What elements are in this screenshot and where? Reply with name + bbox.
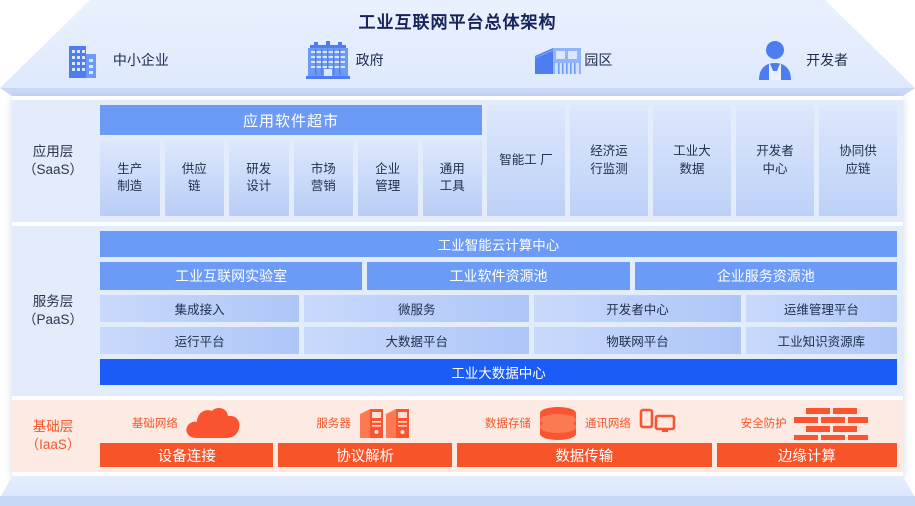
- platform-row-2: 运行平台 大数据平台 物联网平台 工业知识资源库: [100, 327, 897, 354]
- platform-runtime[interactable]: 运行平台: [100, 327, 299, 354]
- app-tile-line2: 制造: [117, 179, 142, 193]
- iaas-capability-bars: 设备连接 协议解析 数据传输 边缘计算: [100, 443, 897, 467]
- layer-label-line1: 服务层: [33, 293, 74, 311]
- header-base-strip: [0, 88, 915, 96]
- architecture-diagram: 工业互联网平台总体架构: [0, 0, 915, 506]
- biz-tile-smart-factory[interactable]: 智能工 厂: [487, 105, 565, 216]
- biz-tile-line1: 工业大: [673, 144, 711, 158]
- header-section: 工业互联网平台总体架构: [0, 0, 915, 96]
- app-tile-line2: 工具: [440, 179, 465, 193]
- layer-label-line2: （SaaS）: [23, 161, 83, 179]
- platform-bigdata[interactable]: 大数据平台: [304, 327, 529, 354]
- layer-body-iaas: 基础网络 服务器: [94, 400, 903, 472]
- page-title: 工业互联网平台总体架构: [0, 8, 915, 33]
- layer-label-line1: 基础层: [33, 418, 74, 436]
- app-tile-line1: 研发: [246, 162, 271, 176]
- iaas-bar-edge-computing[interactable]: 边缘计算: [717, 443, 897, 467]
- pool-industrial-internet-lab[interactable]: 工业互联网实验室: [100, 262, 362, 290]
- app-tile-supply-chain[interactable]: 供应 链: [165, 140, 225, 216]
- persona-sme[interactable]: 中小企业: [0, 38, 229, 82]
- persona-label: 中小企业: [113, 50, 169, 70]
- layer-label-line2: （IaaS）: [26, 436, 81, 454]
- platform-integration-access[interactable]: 集成接入: [100, 295, 299, 322]
- iaas-icon-row: 基础网络 服务器: [100, 403, 897, 443]
- layer-saas: 应用层 （SaaS） 应用软件超市 生产 制造: [12, 100, 903, 222]
- iaas-group-label: 基础网络: [132, 415, 178, 431]
- persona-row: 中小企业: [0, 36, 915, 84]
- iaas-group-storage-network: 数据存储 通讯网络: [453, 403, 713, 443]
- biz-tile-line1: 开发者: [756, 144, 794, 158]
- layer-body-saas: 应用软件超市 生产 制造 供应 链: [94, 100, 903, 222]
- app-tile-enterprise-mgmt[interactable]: 企业 管理: [358, 140, 418, 216]
- iaas-group-server: 服务器: [277, 403, 454, 443]
- devices-network-icon: [636, 404, 682, 442]
- resource-pool-row: 工业互联网实验室 工业软件资源池 企业服务资源池: [100, 262, 897, 290]
- footer-base-strip: [0, 496, 915, 506]
- biz-tile-label: 智能工 厂: [499, 152, 552, 170]
- architecture-body: 应用层 （SaaS） 应用软件超市 生产 制造: [12, 96, 903, 476]
- biz-tile-line2: 应链: [845, 162, 870, 176]
- app-tile-line2: 设计: [246, 179, 271, 193]
- layer-label-line1: 应用层: [33, 143, 74, 161]
- iaas-group-label: 安全防护: [741, 415, 787, 431]
- app-tile-production[interactable]: 生产 制造: [100, 140, 160, 216]
- app-tile-general-tools[interactable]: 通用 工具: [423, 140, 483, 216]
- iaas-group-security: 安全防护: [713, 403, 897, 443]
- iaas-bar-protocol-parsing[interactable]: 协议解析: [278, 443, 451, 467]
- layer-label-paas: 服务层 （PaaS）: [12, 226, 94, 396]
- layer-label-saas: 应用层 （SaaS）: [12, 100, 94, 222]
- footer-trapezoid: [0, 476, 915, 498]
- layer-paas: 服务层 （PaaS） 工业智能云计算中心 工业互联网实验室 工业软件资源池 企业…: [12, 226, 903, 396]
- app-tile-line2: 营销: [311, 179, 336, 193]
- biz-tile-line1: 经济运: [590, 144, 628, 158]
- persona-label: 园区: [584, 50, 612, 70]
- database-icon: [536, 404, 580, 442]
- iaas-group-network: 基础网络: [100, 403, 277, 443]
- persona-label: 开发者: [806, 50, 848, 70]
- app-tile-line2: 管理: [375, 179, 400, 193]
- iaas-bar-device-connection[interactable]: 设备连接: [100, 443, 273, 467]
- iaas-group-label-2: 通讯网络: [585, 415, 631, 431]
- persona-park[interactable]: 园区: [458, 38, 687, 82]
- platform-row-1: 集成接入 微服务 开发者中心 运维管理平台: [100, 295, 897, 322]
- persona-developer[interactable]: 开发者: [686, 38, 915, 82]
- app-supermarket-banner[interactable]: 应用软件超市: [100, 105, 482, 135]
- app-tile-line1: 企业: [375, 162, 400, 176]
- app-tile-line2: 链: [188, 179, 201, 193]
- cloud-computing-center-banner[interactable]: 工业智能云计算中心: [100, 231, 897, 257]
- biz-tile-line2: 数据: [679, 162, 704, 176]
- saas-app-tiles: 生产 制造 供应 链 研发: [100, 140, 482, 216]
- layer-label-line2: （PaaS）: [23, 311, 83, 329]
- brick-wall-icon: [792, 405, 870, 441]
- industrial-bigdata-center-banner[interactable]: 工业大数据中心: [100, 359, 897, 385]
- government-building-icon: [303, 38, 347, 82]
- persona-label: 政府: [356, 50, 384, 70]
- app-tile-line1: 生产: [117, 162, 142, 176]
- platform-microservice[interactable]: 微服务: [304, 295, 529, 322]
- office-building-icon: [60, 38, 104, 82]
- iaas-group-label: 数据存储: [485, 415, 531, 431]
- platform-iot[interactable]: 物联网平台: [534, 327, 741, 354]
- biz-tile-developer-center[interactable]: 开发者 中心: [736, 105, 814, 216]
- biz-tile-line2: 行监测: [590, 162, 628, 176]
- app-tile-marketing[interactable]: 市场 营销: [294, 140, 354, 216]
- cloud-icon: [183, 404, 245, 442]
- pool-industrial-software[interactable]: 工业软件资源池: [367, 262, 629, 290]
- saas-right-column: 智能工 厂 经济运 行监测 工业大 数据: [487, 105, 897, 216]
- app-tile-rnd-design[interactable]: 研发 设计: [229, 140, 289, 216]
- platform-ops-management[interactable]: 运维管理平台: [746, 295, 897, 322]
- pool-enterprise-service[interactable]: 企业服务资源池: [635, 262, 897, 290]
- server-rack-icon: [356, 404, 414, 442]
- layer-iaas: 基础层 （IaaS） 基础网络 服务器: [12, 400, 903, 472]
- biz-tile-industrial-bigdata[interactable]: 工业大 数据: [653, 105, 731, 216]
- developer-person-icon: [753, 38, 797, 82]
- persona-government[interactable]: 政府: [229, 38, 458, 82]
- app-tile-line1: 供应: [182, 162, 207, 176]
- biz-tile-economic-monitor[interactable]: 经济运 行监测: [570, 105, 648, 216]
- biz-tile-line2: 中心: [762, 162, 787, 176]
- layer-label-iaas: 基础层 （IaaS）: [12, 400, 94, 472]
- layer-body-paas: 工业智能云计算中心 工业互联网实验室 工业软件资源池 企业服务资源池 集成接入 …: [94, 226, 903, 396]
- app-tile-line1: 通用: [440, 162, 465, 176]
- iaas-group-label: 服务器: [316, 415, 351, 431]
- platform-knowledge-base[interactable]: 工业知识资源库: [746, 327, 897, 354]
- biz-tile-collaborative-supply[interactable]: 协同供 应链: [819, 105, 897, 216]
- saas-left-column: 应用软件超市 生产 制造 供应 链: [100, 105, 482, 216]
- iaas-bar-data-transmission[interactable]: 数据传输: [457, 443, 712, 467]
- app-tile-line1: 市场: [311, 162, 336, 176]
- platform-developer-center[interactable]: 开发者中心: [534, 295, 741, 322]
- industrial-park-icon: [531, 38, 575, 82]
- biz-tile-line1: 协同供: [839, 144, 877, 158]
